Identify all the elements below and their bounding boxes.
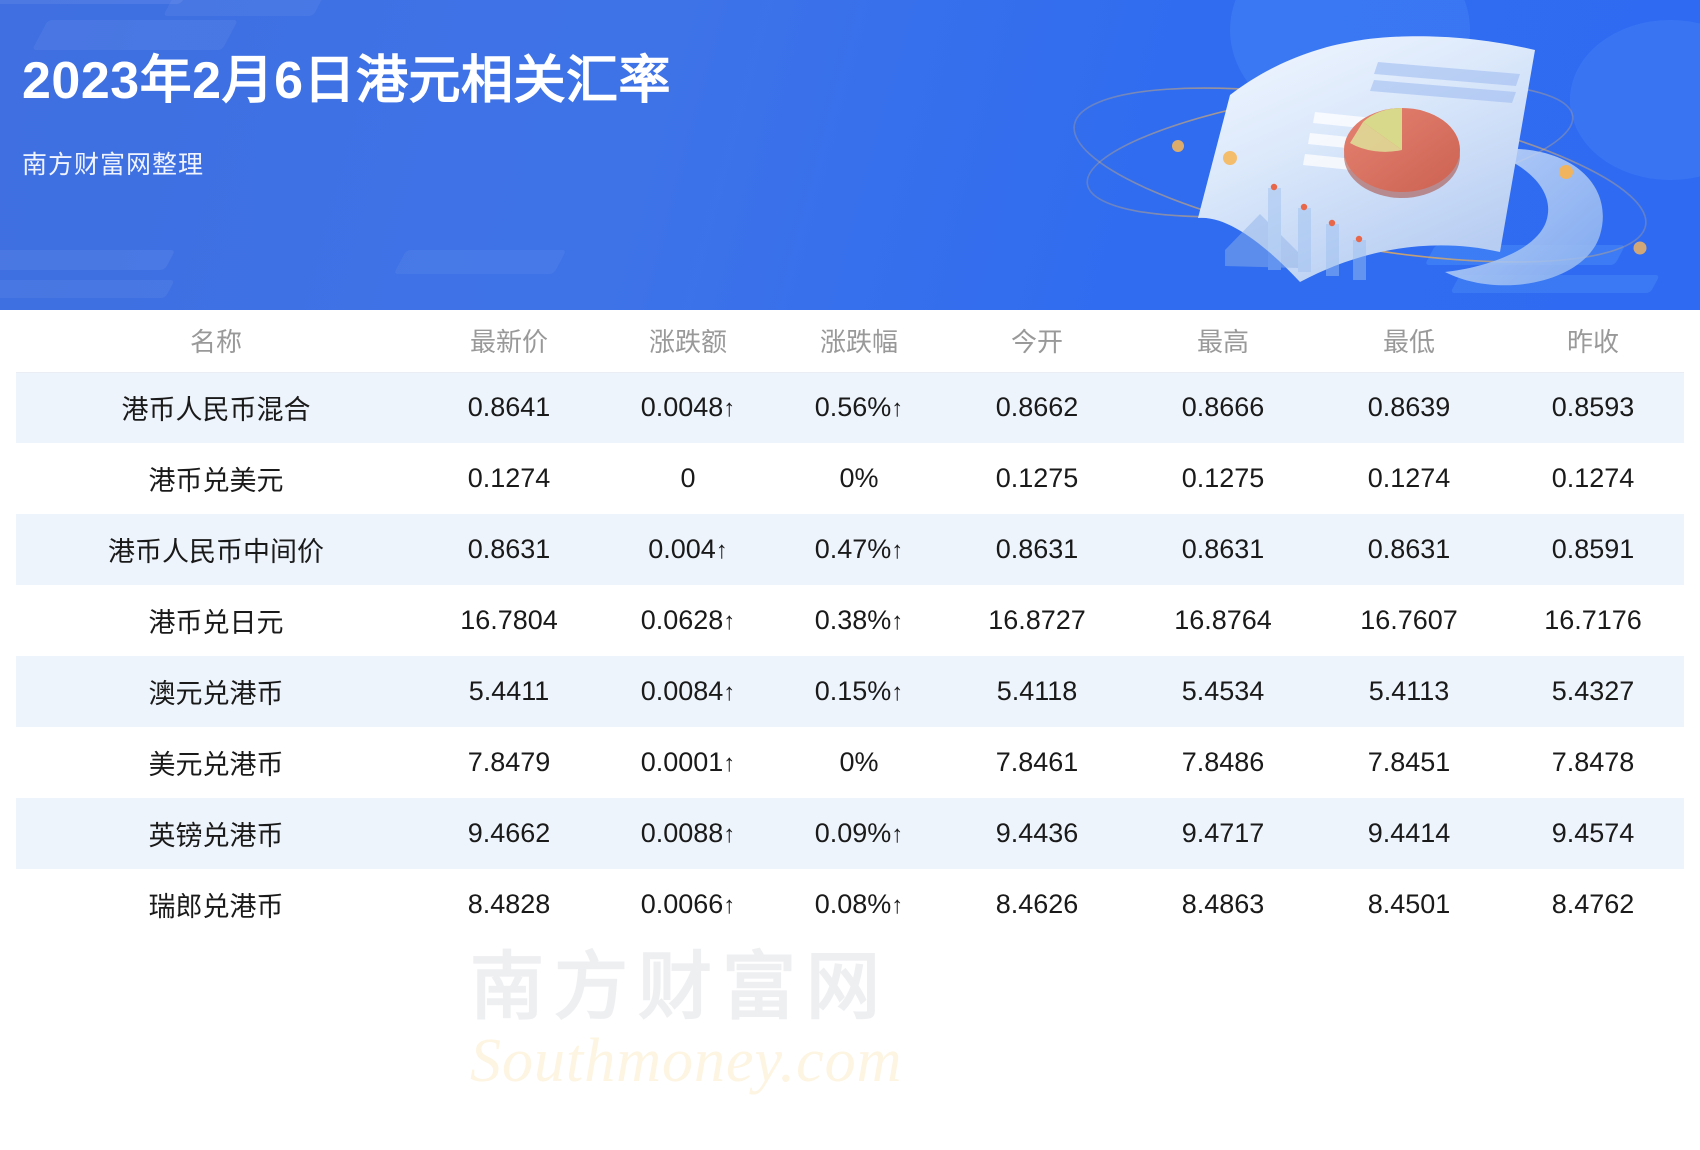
- cell-high: 8.4863: [1130, 869, 1316, 940]
- site-watermark: 南方财富网 Southmoney.com: [470, 950, 1170, 1092]
- exchange-rates-table: 名称 最新价 涨跌额 涨跌幅 今开 最高 最低 昨收 港币人民币混合0.8641…: [16, 310, 1684, 940]
- header-banner: 2023年2月6日港元相关汇率 南方财富网整理: [0, 0, 1700, 310]
- cell-change-pct: 0.09%↑: [774, 798, 944, 869]
- decor-streak-4: [0, 250, 175, 270]
- cell-currency-name: 港币兑美元: [16, 443, 416, 514]
- cell-change: 0.0048↑: [602, 372, 774, 443]
- cell-currency-name: 港币人民币混合: [16, 372, 416, 443]
- cell-last-price: 9.4662: [416, 798, 602, 869]
- arrow-up-icon: ↑: [723, 892, 735, 919]
- banner-text-block: 2023年2月6日港元相关汇率 南方财富网整理: [22, 54, 671, 181]
- cell-open: 8.4626: [944, 869, 1130, 940]
- arrow-up-icon: ↑: [891, 608, 903, 635]
- cell-change-pct: 0%: [774, 443, 944, 514]
- cell-high: 0.8666: [1130, 372, 1316, 443]
- cell-change: 0.0001↑: [602, 727, 774, 798]
- cell-high: 0.8631: [1130, 514, 1316, 585]
- cell-high: 7.8486: [1130, 727, 1316, 798]
- cell-change-pct: 0.56%↑: [774, 372, 944, 443]
- cell-prev-close: 0.8591: [1502, 514, 1684, 585]
- cell-change-pct: 0.08%↑: [774, 869, 944, 940]
- cell-currency-name: 港币兑日元: [16, 585, 416, 656]
- cell-low: 7.8451: [1316, 727, 1502, 798]
- cell-prev-close: 5.4327: [1502, 656, 1684, 727]
- cell-currency-name: 港币人民币中间价: [16, 514, 416, 585]
- column-header-open: 今开: [944, 310, 1130, 372]
- cell-prev-close: 7.8478: [1502, 727, 1684, 798]
- table-row: 港币人民币混合0.86410.0048↑0.56%↑0.86620.86660.…: [16, 372, 1684, 443]
- table-head: 名称 最新价 涨跌额 涨跌幅 今开 最高 最低 昨收: [16, 310, 1684, 372]
- cell-high: 0.1275: [1130, 443, 1316, 514]
- cell-last-price: 5.4411: [416, 656, 602, 727]
- watermark-en: Southmoney.com: [470, 1030, 1170, 1092]
- table-row: 港币人民币中间价0.86310.004↑0.47%↑0.86310.86310.…: [16, 514, 1684, 585]
- table-row: 港币兑日元16.78040.0628↑0.38%↑16.872716.87641…: [16, 585, 1684, 656]
- cell-last-price: 7.8479: [416, 727, 602, 798]
- cell-open: 5.4118: [944, 656, 1130, 727]
- table-row: 澳元兑港币5.44110.0084↑0.15%↑5.41185.45345.41…: [16, 656, 1684, 727]
- cell-last-price: 0.8641: [416, 372, 602, 443]
- decor-streak-3: [163, 0, 327, 16]
- arrow-up-icon: ↑: [716, 537, 728, 564]
- cell-low: 8.4501: [1316, 869, 1502, 940]
- column-header-last: 最新价: [416, 310, 602, 372]
- cell-low: 16.7607: [1316, 585, 1502, 656]
- cell-prev-close: 9.4574: [1502, 798, 1684, 869]
- decor-streak-5: [0, 280, 175, 298]
- cell-change: 0: [602, 443, 774, 514]
- cell-currency-name: 瑞郎兑港币: [16, 869, 416, 940]
- illustration-svg: [1030, 0, 1670, 310]
- cell-low: 5.4113: [1316, 656, 1502, 727]
- cell-open: 9.4436: [944, 798, 1130, 869]
- arrow-up-icon: ↑: [723, 395, 735, 422]
- cell-last-price: 8.4828: [416, 869, 602, 940]
- banner-subtitle: 南方财富网整理: [22, 145, 671, 181]
- arrow-up-icon: ↑: [891, 892, 903, 919]
- arrow-up-icon: ↑: [891, 537, 903, 564]
- cell-open: 0.1275: [944, 443, 1130, 514]
- arrow-up-icon: ↑: [723, 608, 735, 635]
- cell-change-pct: 0.38%↑: [774, 585, 944, 656]
- column-header-pct: 涨跌幅: [774, 310, 944, 372]
- cell-change: 0.0084↑: [602, 656, 774, 727]
- cell-open: 16.8727: [944, 585, 1130, 656]
- pie-chart-graphic: [1344, 108, 1460, 198]
- decor-streak-6: [394, 250, 567, 274]
- arrow-up-icon: ↑: [723, 821, 735, 848]
- cell-last-price: 0.1274: [416, 443, 602, 514]
- cell-currency-name: 澳元兑港币: [16, 656, 416, 727]
- cell-change: 0.0066↑: [602, 869, 774, 940]
- arrow-up-icon: ↑: [891, 679, 903, 706]
- watermark-cn: 南方财富网: [470, 950, 1170, 1024]
- rates-table-section: 南方财富网 Southmoney.com 名称 最新价 涨跌额 涨跌幅 今开 最…: [0, 310, 1700, 1150]
- table-body: 港币人民币混合0.86410.0048↑0.56%↑0.86620.86660.…: [16, 372, 1684, 940]
- arrow-up-icon: ↑: [723, 750, 735, 777]
- cell-low: 0.8639: [1316, 372, 1502, 443]
- column-header-name: 名称: [16, 310, 416, 372]
- cell-high: 5.4534: [1130, 656, 1316, 727]
- cell-currency-name: 美元兑港币: [16, 727, 416, 798]
- cell-high: 16.8764: [1130, 585, 1316, 656]
- cell-prev-close: 0.8593: [1502, 372, 1684, 443]
- cell-change-pct: 0.47%↑: [774, 514, 944, 585]
- cell-last-price: 16.7804: [416, 585, 602, 656]
- page-title: 2023年2月6日港元相关汇率: [22, 54, 671, 109]
- cell-prev-close: 8.4762: [1502, 869, 1684, 940]
- cell-open: 7.8461: [944, 727, 1130, 798]
- cell-low: 0.8631: [1316, 514, 1502, 585]
- table-row: 美元兑港币7.84790.0001↑0%7.84617.84867.84517.…: [16, 727, 1684, 798]
- cell-change: 0.0088↑: [602, 798, 774, 869]
- cell-change-pct: 0%: [774, 727, 944, 798]
- cell-change: 0.004↑: [602, 514, 774, 585]
- cell-currency-name: 英镑兑港币: [16, 798, 416, 869]
- arrow-up-icon: ↑: [891, 395, 903, 422]
- cell-prev-close: 16.7176: [1502, 585, 1684, 656]
- cell-high: 9.4717: [1130, 798, 1316, 869]
- cell-change: 0.0628↑: [602, 585, 774, 656]
- table-row: 瑞郎兑港币8.48280.0066↑0.08%↑8.46268.48638.45…: [16, 869, 1684, 940]
- cell-open: 0.8631: [944, 514, 1130, 585]
- column-header-low: 最低: [1316, 310, 1502, 372]
- cell-change-pct: 0.15%↑: [774, 656, 944, 727]
- report-document-illustration: [1030, 0, 1670, 310]
- cell-last-price: 0.8631: [416, 514, 602, 585]
- arrow-up-icon: ↑: [723, 679, 735, 706]
- column-header-prev-close: 昨收: [1502, 310, 1684, 372]
- cell-open: 0.8662: [944, 372, 1130, 443]
- cell-low: 9.4414: [1316, 798, 1502, 869]
- cell-low: 0.1274: [1316, 443, 1502, 514]
- arrow-up-icon: ↑: [891, 821, 903, 848]
- cell-prev-close: 0.1274: [1502, 443, 1684, 514]
- table-header-row: 名称 最新价 涨跌额 涨跌幅 今开 最高 最低 昨收: [16, 310, 1684, 372]
- column-header-change: 涨跌额: [602, 310, 774, 372]
- table-row: 英镑兑港币9.46620.0088↑0.09%↑9.44369.47179.44…: [16, 798, 1684, 869]
- column-header-high: 最高: [1130, 310, 1316, 372]
- exchange-rate-infographic: 2023年2月6日港元相关汇率 南方财富网整理: [0, 0, 1700, 1150]
- table-row: 港币兑美元0.127400%0.12750.12750.12740.1274: [16, 443, 1684, 514]
- decor-streak-2: [32, 20, 238, 50]
